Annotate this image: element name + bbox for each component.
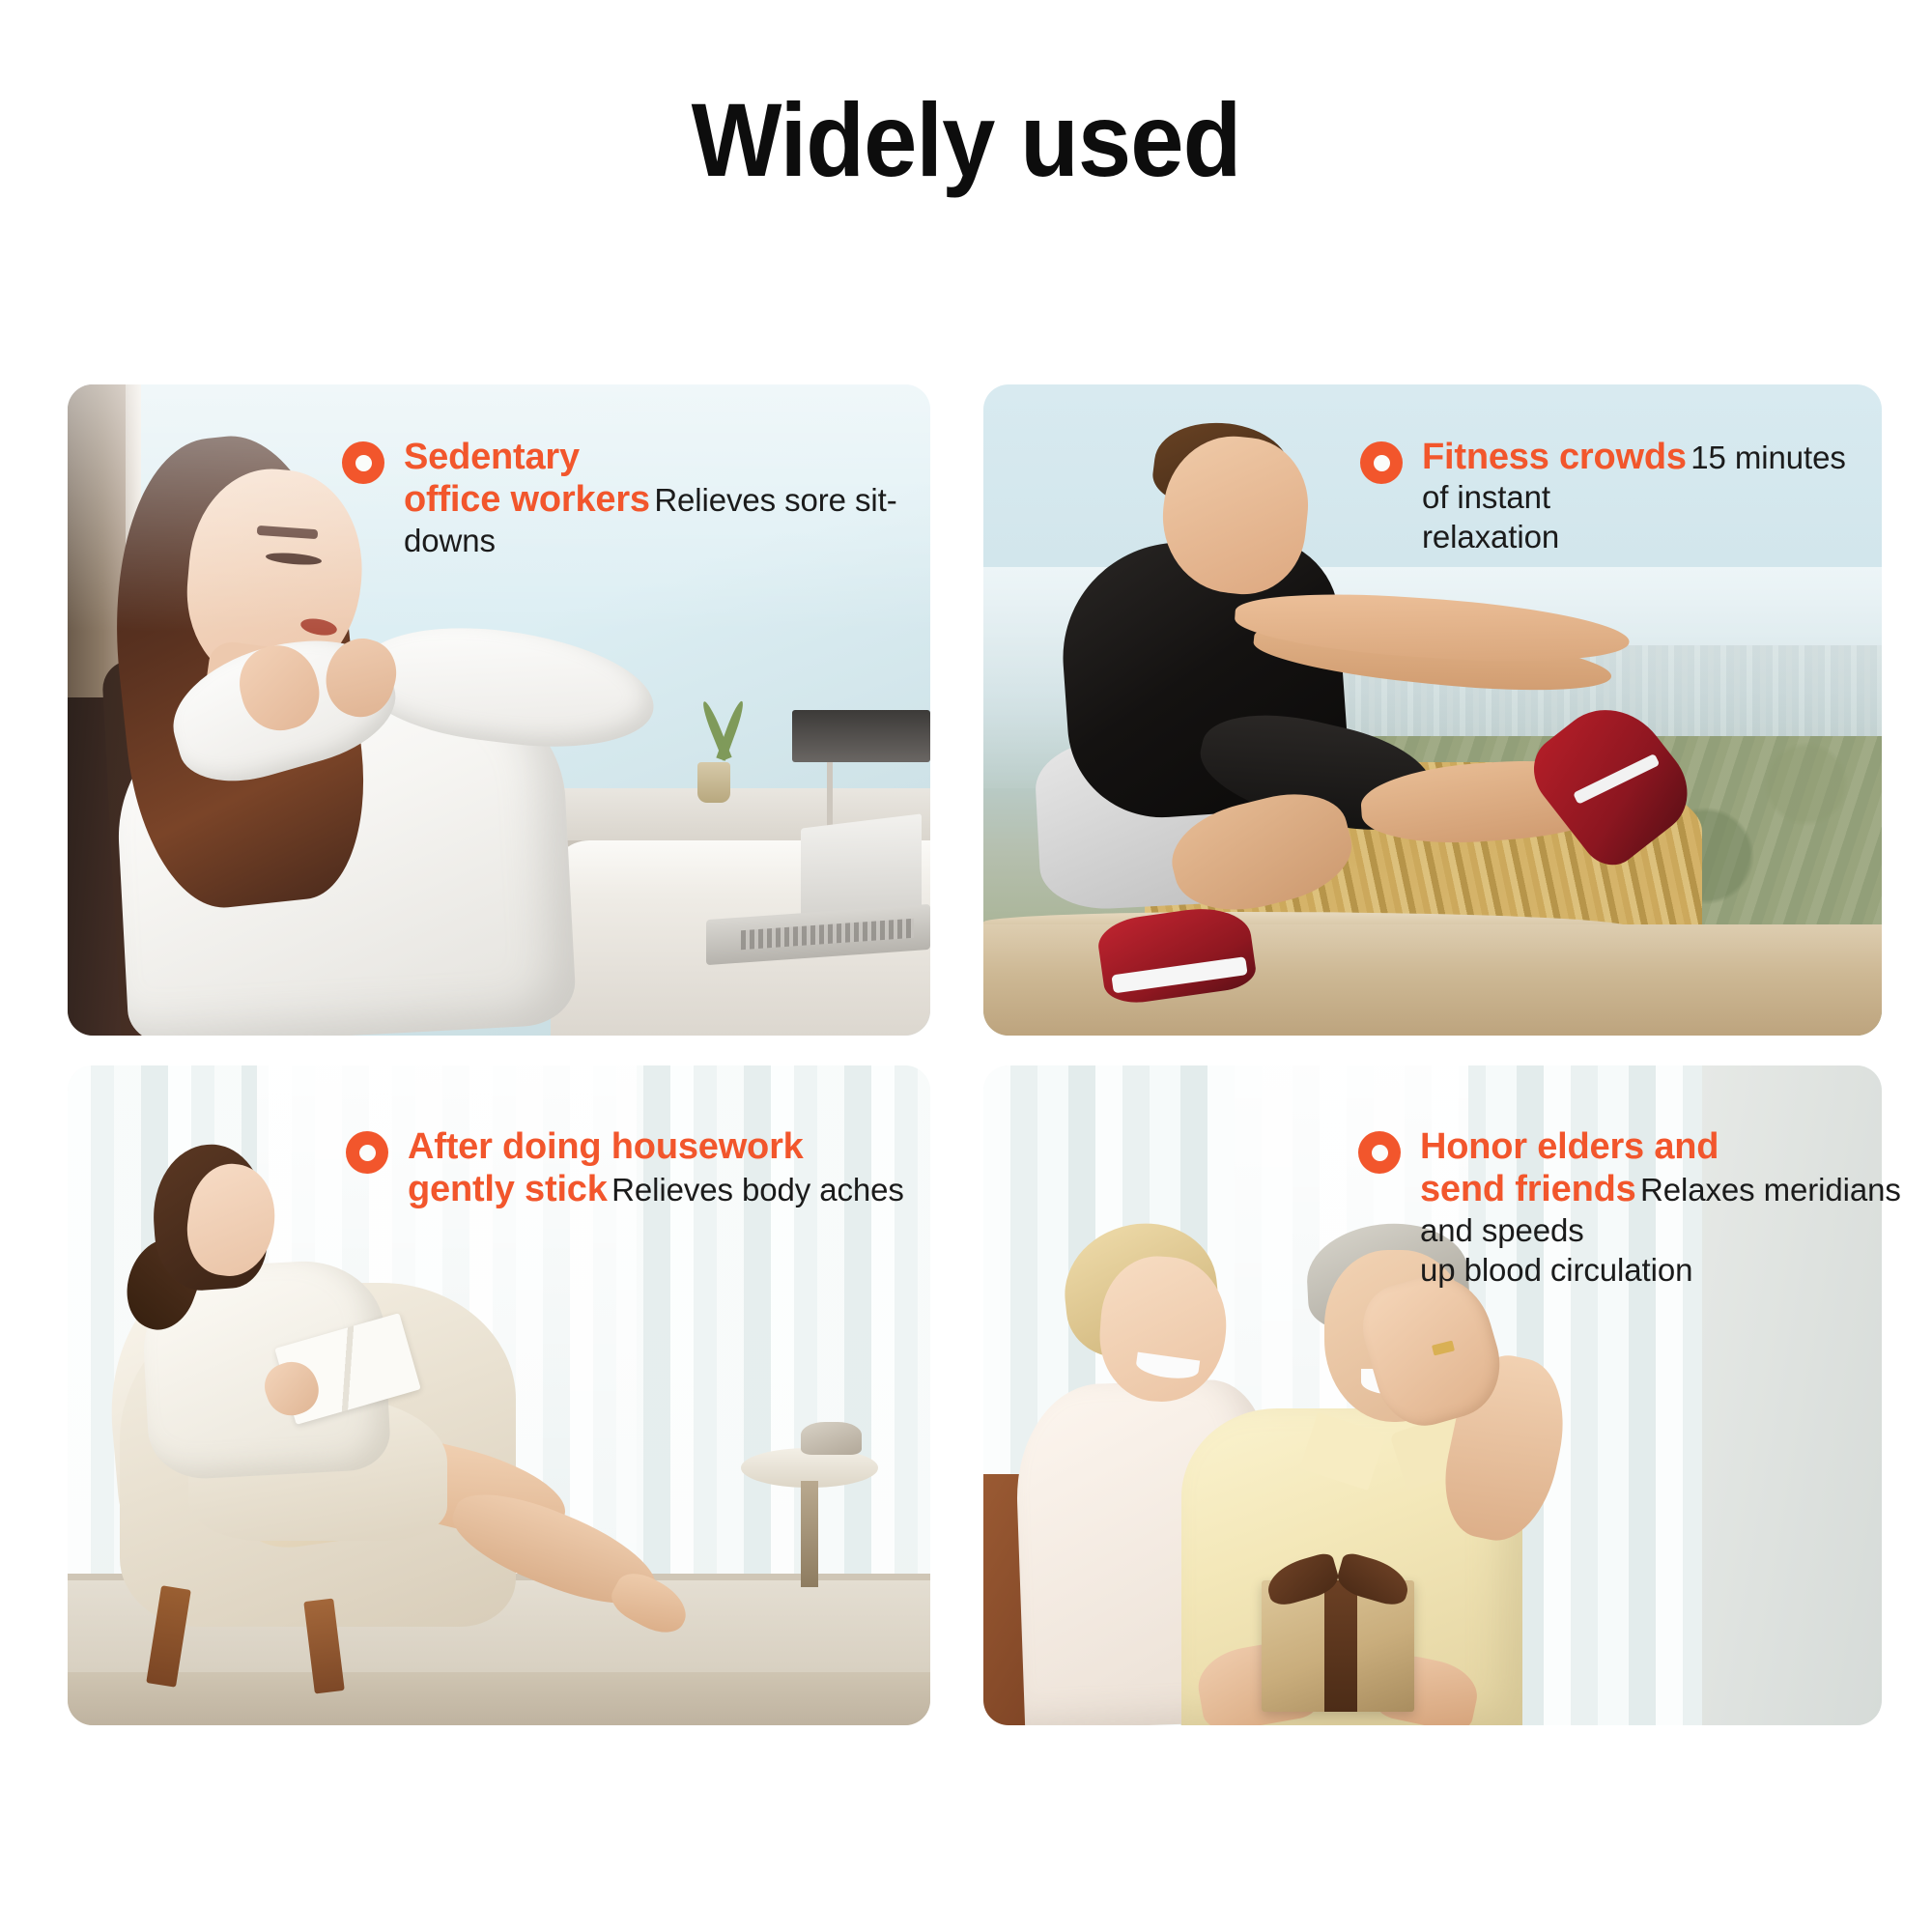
feature-card-fitness-crowds[interactable]: Fitness crowds 15 minutes of instant rel… bbox=[983, 384, 1882, 1036]
feature-card-honor-elders[interactable]: Honor elders and send friends Relaxes me… bbox=[983, 1065, 1882, 1725]
feature-card-after-housework[interactable]: After doing housework gently stick Relie… bbox=[68, 1065, 930, 1725]
product-feature-page: Widely used bbox=[0, 0, 1932, 1932]
card-heading: Fitness crowds bbox=[1422, 437, 1687, 477]
page-title: Widely used bbox=[77, 85, 1855, 194]
card-caption-fitness: Fitness crowds 15 minutes of instant rel… bbox=[1360, 436, 1862, 557]
feature-card-grid: Sedentary office workers Relieves sore s… bbox=[68, 384, 1882, 1725]
feature-card-sedentary-office-workers[interactable]: Sedentary office workers Relieves sore s… bbox=[68, 384, 930, 1036]
card-heading: Sedentary office workers bbox=[404, 437, 650, 520]
card-caption-sedentary: Sedentary office workers Relieves sore s… bbox=[342, 436, 912, 561]
card-caption-elders: Honor elders and send friends Relaxes me… bbox=[1358, 1125, 1932, 1291]
circle-ring-icon bbox=[342, 441, 384, 484]
card-subtext: Relieves body aches bbox=[611, 1172, 904, 1207]
card-caption-housework: After doing housework gently stick Relie… bbox=[346, 1125, 964, 1211]
circle-ring-icon bbox=[1358, 1131, 1401, 1174]
circle-ring-icon bbox=[1360, 441, 1403, 484]
circle-ring-icon bbox=[346, 1131, 388, 1174]
